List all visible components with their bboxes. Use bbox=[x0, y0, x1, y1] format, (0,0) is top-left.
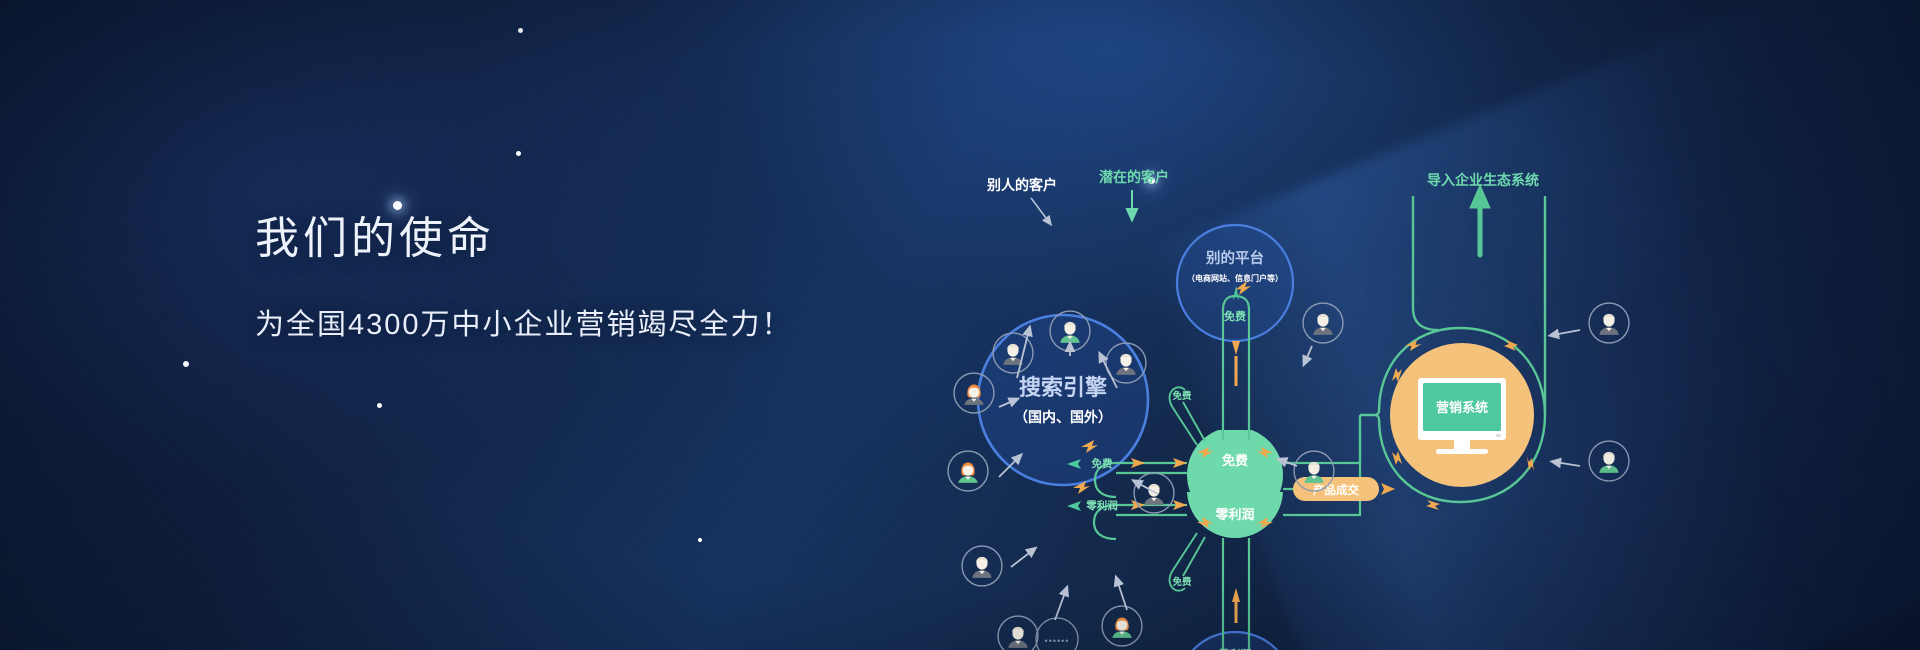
ellipsis-label: •••••• bbox=[1045, 636, 1070, 646]
avatar[interactable] bbox=[1134, 473, 1174, 513]
ellipsis-node: •••••• bbox=[1036, 618, 1078, 650]
flow-tag-free-lower: 免费 bbox=[1172, 576, 1192, 588]
marketing-system-node[interactable]: 营销系统 bbox=[1390, 343, 1534, 487]
search-engine-title: 搜索引擎 bbox=[1019, 375, 1107, 400]
page-title: 我们的使命 bbox=[255, 215, 895, 263]
avatar[interactable] bbox=[1102, 606, 1142, 646]
avatar[interactable] bbox=[998, 616, 1038, 650]
avatar[interactable] bbox=[1589, 441, 1629, 481]
hub-feeder-tags: 免费 免费 bbox=[1172, 390, 1192, 588]
platform-top-tag: 免费 bbox=[1224, 309, 1246, 323]
hub-top-label: 免费 bbox=[1222, 453, 1248, 468]
platform-top-title: 别的平台 bbox=[1205, 249, 1264, 267]
hero-subtitle: 为全国4300万中小企业营销竭尽全力！ bbox=[255, 301, 895, 343]
flow-tag-free-upper: 免费 bbox=[1172, 390, 1192, 402]
spark-dot-0 bbox=[518, 28, 523, 33]
search-engine-sub: （国内、国外） bbox=[1014, 409, 1112, 425]
hero-copy: 我们的使命 为全国4300万中小企业营销竭尽全力！ bbox=[255, 215, 895, 343]
hub-bottom-label: 零利润 bbox=[1214, 507, 1254, 522]
spark-dot-3 bbox=[183, 361, 189, 367]
spark-dot-2 bbox=[393, 201, 402, 210]
platform-bottom-node[interactable]: 别的平台 （电商网站、信息门户等） bbox=[1177, 632, 1293, 650]
label-potential-customers: 潜在的客户 bbox=[1099, 169, 1169, 185]
platform-top-sub: （电商网站、信息门户等） bbox=[1187, 273, 1283, 283]
avatar[interactable] bbox=[948, 451, 988, 491]
marketing-system-label: 营销系统 bbox=[1436, 400, 1488, 415]
spark-dot-1 bbox=[516, 151, 521, 156]
flow-tag-free-top: 免费 bbox=[1224, 309, 1246, 323]
avatar[interactable] bbox=[1589, 303, 1629, 343]
flow-tag-free-search: 免费 bbox=[1092, 457, 1114, 470]
label-others-customers: 别人的客户 bbox=[986, 177, 1057, 193]
platform-top-node[interactable]: 别的平台 （电商网站、信息门户等） bbox=[1177, 225, 1293, 341]
avatar[interactable] bbox=[1303, 303, 1343, 343]
hero-banner: 我们的使命 为全国4300万中小企业营销竭尽全力！ bbox=[0, 0, 1920, 650]
label-import-ecosystem: 导入企业生态系统 bbox=[1427, 172, 1539, 188]
hub-node[interactable]: 免费 零利润 bbox=[1187, 427, 1283, 538]
avatar[interactable] bbox=[962, 546, 1002, 586]
spark-dot-4 bbox=[377, 403, 382, 408]
spark-dot-6 bbox=[698, 538, 702, 542]
marketing-ecosystem-diagram: 营销系统 免费 零利润 bbox=[905, 150, 1625, 520]
flow-tag-zero-search: 零利润 bbox=[1085, 499, 1118, 512]
